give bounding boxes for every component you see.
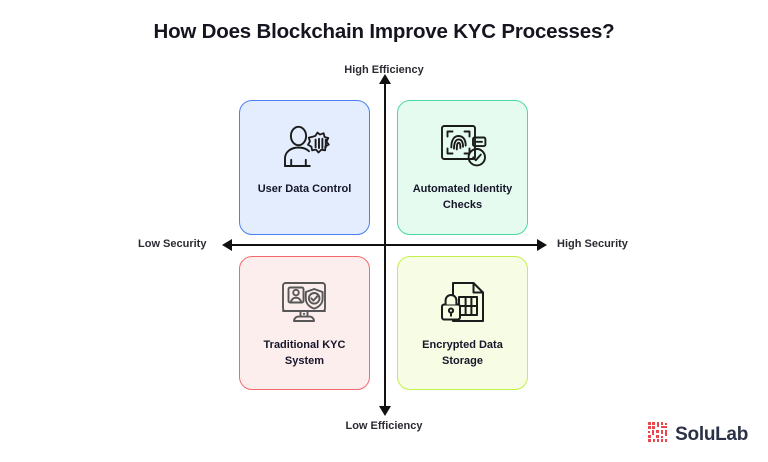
quadrant-card-encrypted-data-storage[interactable]: Encrypted Data Storage	[397, 256, 528, 390]
axis-arrow-left-icon	[222, 239, 232, 251]
quadrant-label: Traditional KYC System	[240, 337, 369, 369]
axis-arrow-down-icon	[379, 406, 391, 416]
user-gear-icon	[279, 121, 331, 173]
horizontal-axis-line	[231, 244, 539, 246]
solulab-qr-mark-icon	[648, 422, 669, 448]
quadrant-label: Automated Identity Checks	[398, 181, 527, 213]
page-title: How Does Blockchain Improve KYC Processe…	[0, 20, 768, 44]
axis-arrow-right-icon	[537, 239, 547, 251]
quadrant-label: Encrypted Data Storage	[398, 337, 527, 369]
monitor-shield-icon	[279, 277, 331, 329]
quadrant-label: User Data Control	[249, 181, 361, 197]
axis-label-high-security: High Security	[557, 238, 628, 250]
quadrant-card-user-data-control[interactable]: User Data Control	[239, 100, 370, 235]
axis-label-low-security: Low Security	[138, 238, 206, 250]
solulab-logo[interactable]: SoluLab	[648, 422, 748, 448]
quadrant-diagram-page: How Does Blockchain Improve KYC Processe…	[0, 0, 768, 462]
solulab-logo-text: SoluLab	[675, 424, 748, 446]
document-lock-icon	[437, 277, 489, 329]
fingerprint-verified-icon	[437, 121, 489, 173]
quadrant-card-traditional-kyc-system[interactable]: Traditional KYC System	[239, 256, 370, 390]
axis-label-high-efficiency: High Efficiency	[0, 64, 768, 76]
quadrant-card-automated-identity-checks[interactable]: Automated Identity Checks	[397, 100, 528, 235]
